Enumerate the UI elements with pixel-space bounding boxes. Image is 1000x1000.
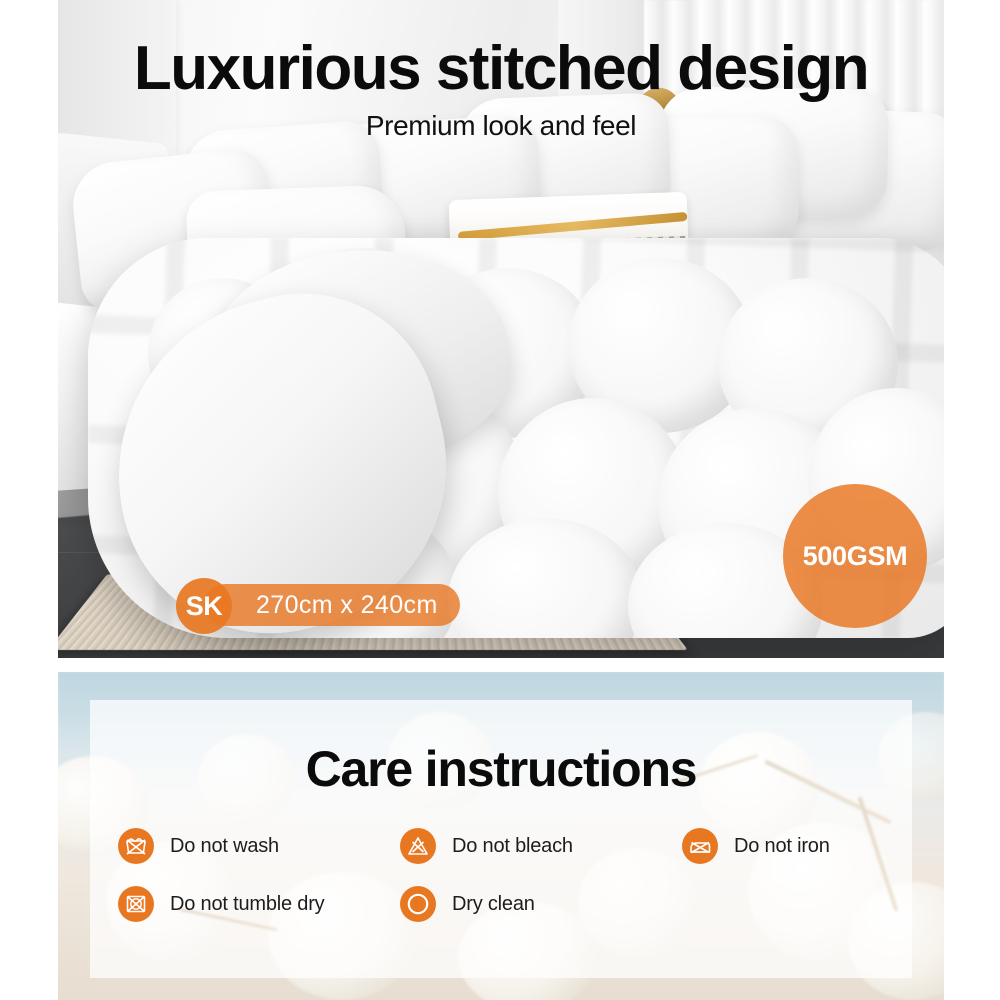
care-item-do-not-iron: Do not iron xyxy=(682,828,884,864)
do-not-bleach-icon xyxy=(400,828,436,864)
care-item-do-not-tumble-dry: Do not tumble dry xyxy=(118,886,400,922)
care-item-dry-clean: Dry clean xyxy=(400,886,682,922)
care-item-do-not-bleach: Do not bleach xyxy=(400,828,682,864)
care-item-do-not-wash: Do not wash xyxy=(118,828,400,864)
do-not-wash-icon xyxy=(118,828,154,864)
product-marketing-image: Luxurious stitched design Premium look a… xyxy=(0,0,1000,1000)
care-instructions-photo: Care instructions Do not wash xyxy=(58,672,944,1000)
care-item-label: Do not iron xyxy=(734,835,830,858)
do-not-tumble-dry-icon xyxy=(118,886,154,922)
care-item-label: Do not wash xyxy=(170,835,279,858)
page-subtitle: Premium look and feel xyxy=(58,110,944,142)
care-items-grid: Do not wash Do not bleach xyxy=(118,828,884,922)
gsm-badge: 500GSM xyxy=(783,484,927,628)
care-title: Care instructions xyxy=(90,740,912,798)
page-title: Luxurious stitched design xyxy=(58,38,944,100)
care-item-label: Dry clean xyxy=(452,893,535,916)
size-dimensions-label: 270cm x 240cm xyxy=(204,584,460,626)
do-not-iron-icon xyxy=(682,828,718,864)
size-badge: 270cm x 240cm SK xyxy=(176,578,232,634)
hero-bedroom-photo: Luxurious stitched design Premium look a… xyxy=(58,0,944,658)
care-item-label: Do not bleach xyxy=(452,835,573,858)
care-instructions-panel: Care instructions Do not wash xyxy=(90,700,912,978)
size-code-label: SK xyxy=(176,578,232,634)
care-item-label: Do not tumble dry xyxy=(170,893,324,916)
dry-clean-icon xyxy=(400,886,436,922)
